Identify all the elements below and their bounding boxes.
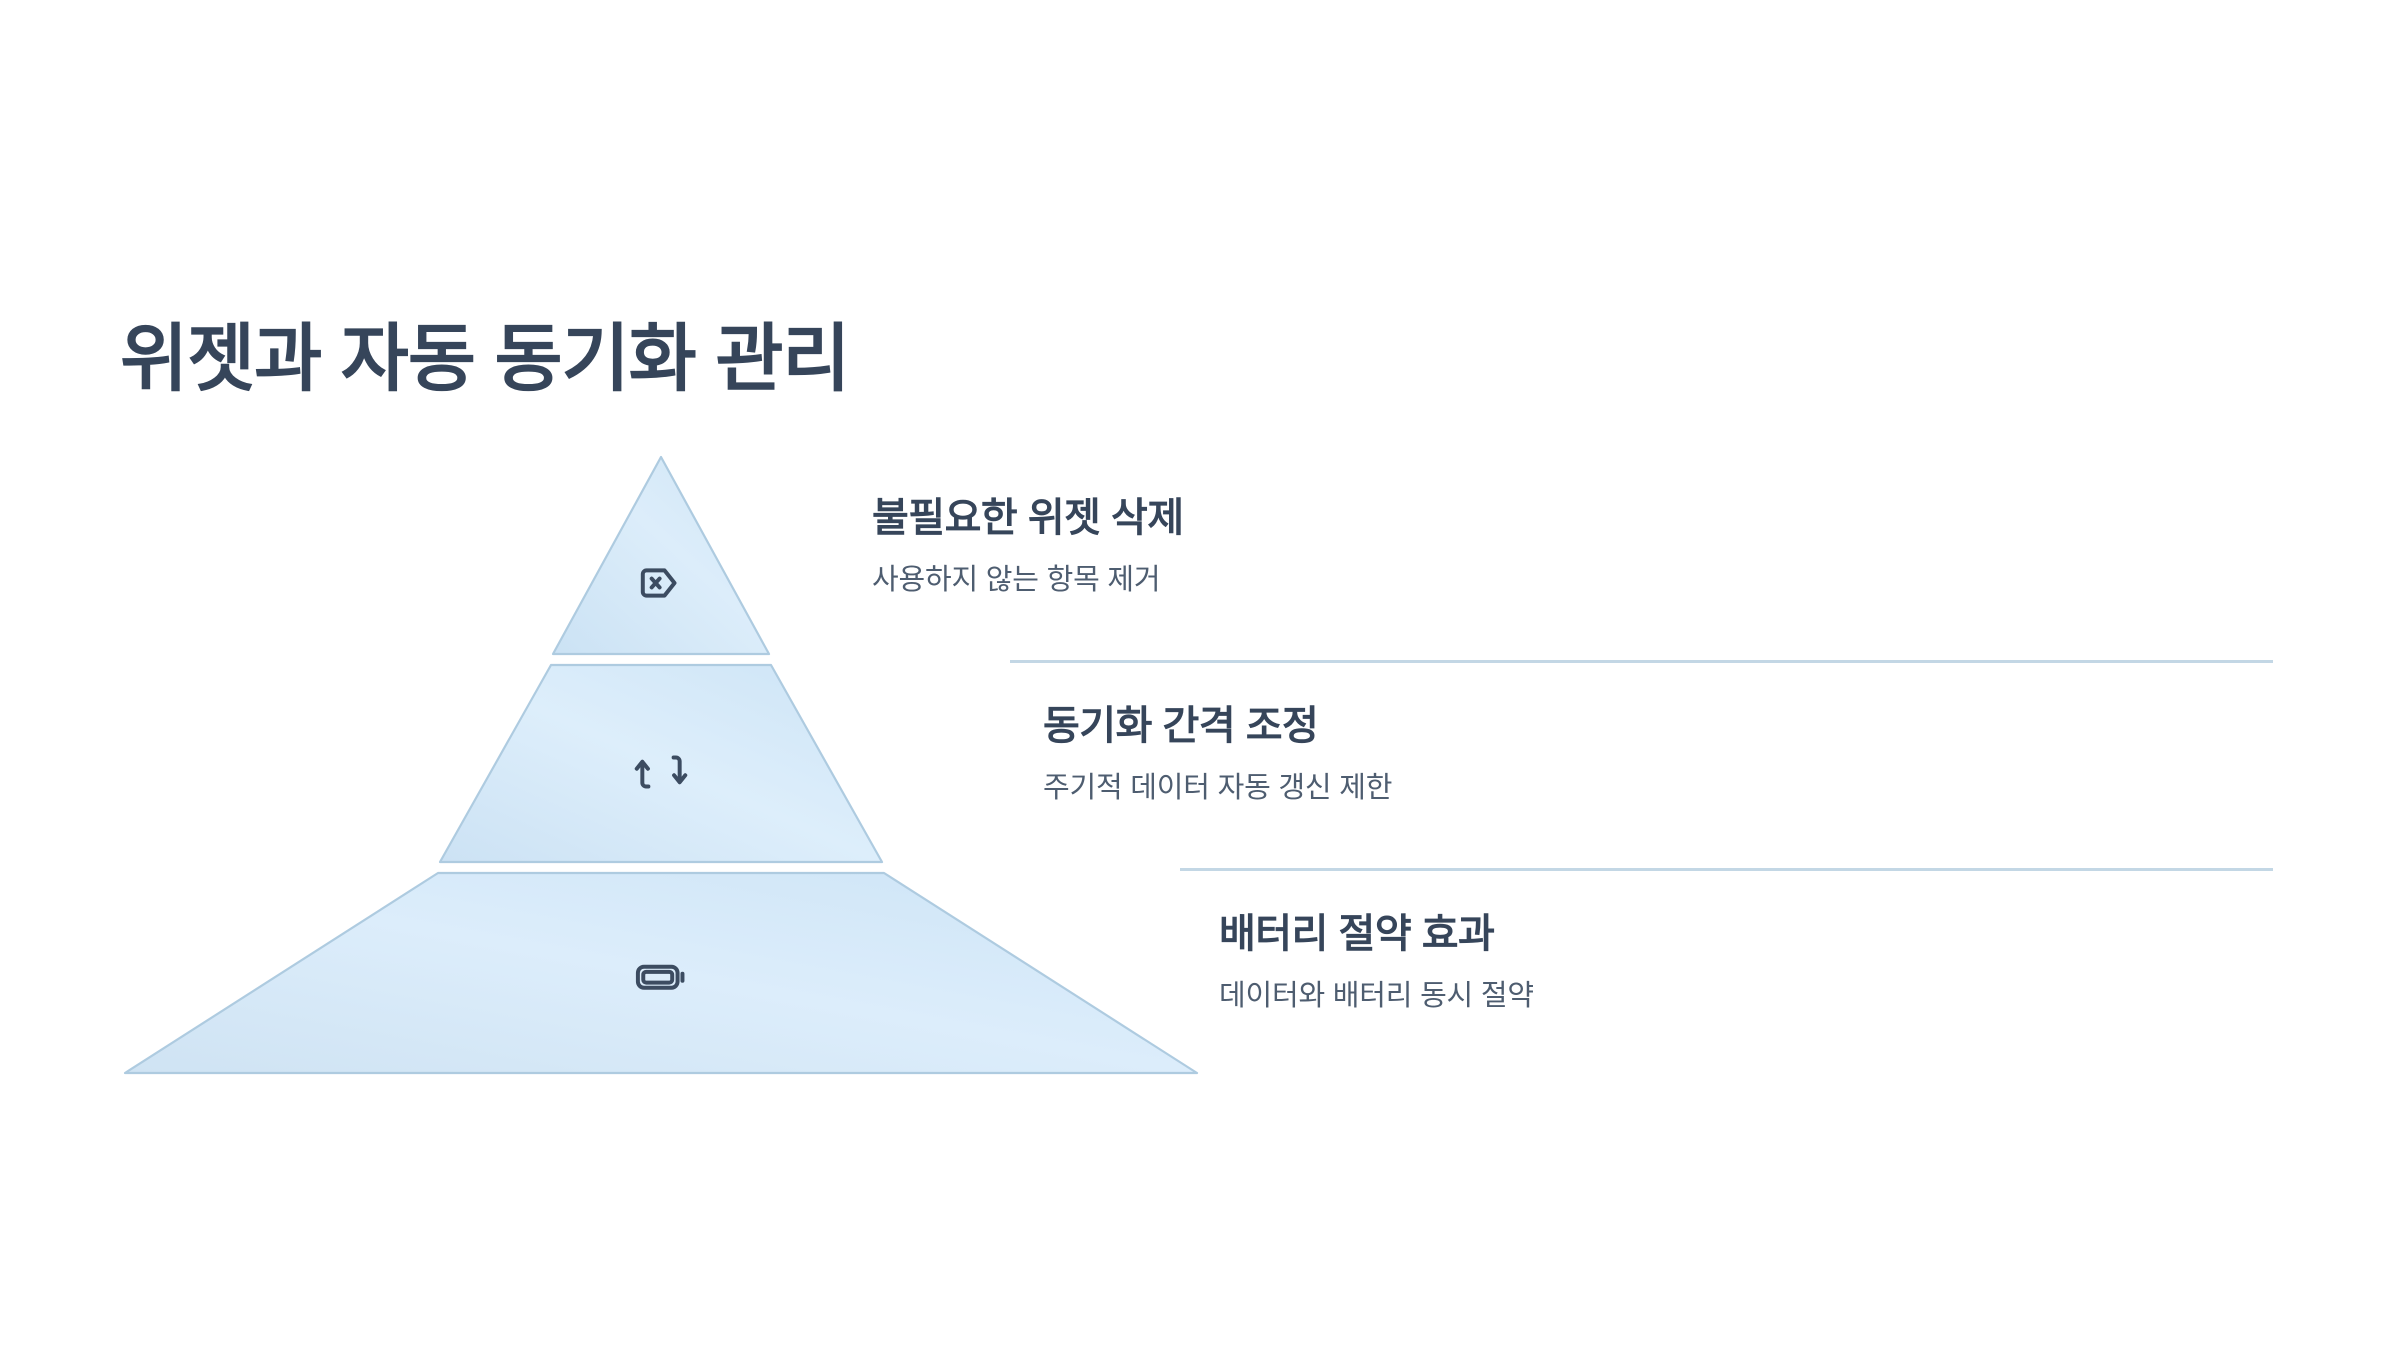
slide-canvas: 위젯과 자동 동기화 관리 [0,0,2400,1350]
page-title: 위젯과 자동 동기화 관리 [120,318,849,399]
tier-1-subtext: 사용하지 않는 항목 제거 [872,562,1184,600]
tier-divider-1 [1010,660,2273,663]
pyramid-tier-3-label: 배터리 절약 효과 데이터와 배터리 동시 절약 [1219,910,1534,1016]
tier-2-heading: 동기화 간격 조정 [1043,702,1392,750]
pyramid-tier-2-label: 동기화 간격 조정 주기적 데이터 자동 갱신 제한 [1043,702,1392,808]
tier-3-heading: 배터리 절약 효과 [1219,910,1534,958]
tier-3-subtext: 데이터와 배터리 동시 절약 [1219,978,1534,1016]
tier-1-heading: 불필요한 위젯 삭제 [872,494,1184,542]
sync-arrows-icon [633,744,689,800]
battery-icon [633,949,689,1005]
tier-divider-2 [1180,868,2273,871]
tag-x-icon [633,555,689,611]
tier-2-subtext: 주기적 데이터 자동 갱신 제한 [1043,770,1392,808]
pyramid-tier-1-label: 불필요한 위젯 삭제 사용하지 않는 항목 제거 [872,494,1184,600]
